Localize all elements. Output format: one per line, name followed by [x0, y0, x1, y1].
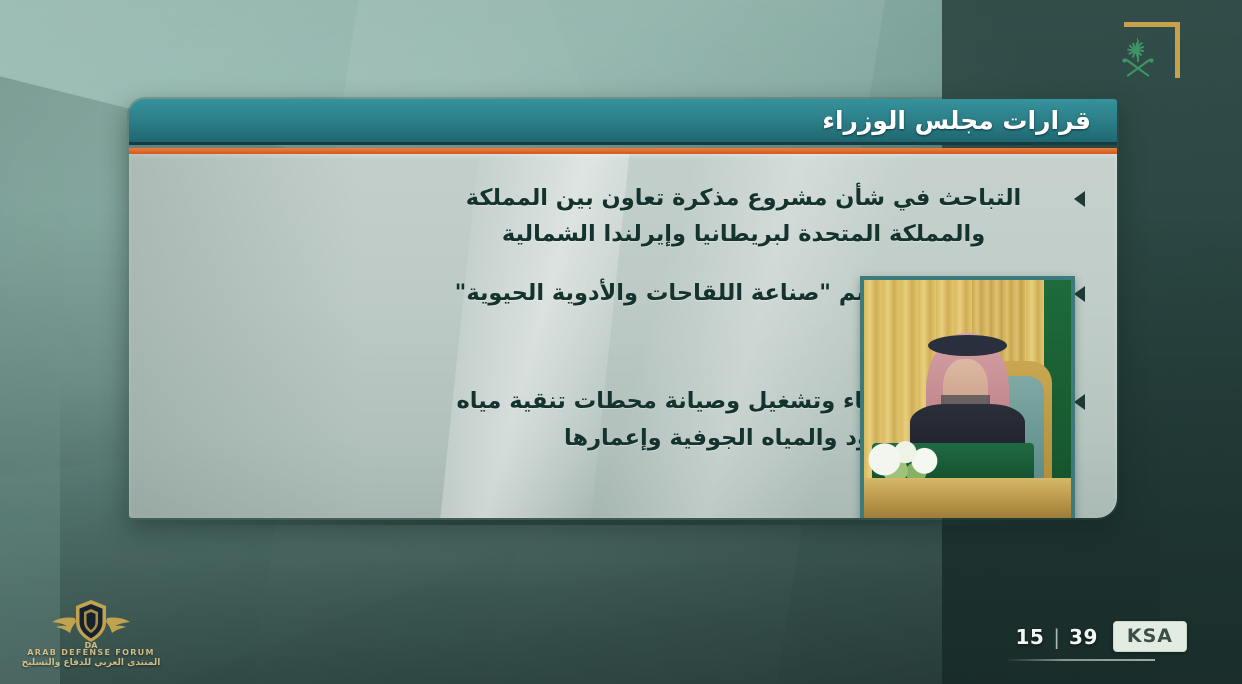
clock-underline-rule: [1005, 659, 1155, 661]
photo-flowers: [868, 433, 951, 481]
triangle-left-bullet-icon: [1074, 394, 1085, 410]
saudi-emblem-group: [1106, 22, 1180, 84]
clock-minutes: 39: [1069, 625, 1098, 649]
card-header-bar: قرارات مجلس الوزراء: [129, 99, 1117, 145]
page-title: قرارات مجلس الوزراء: [822, 106, 1091, 135]
shield-and-wings-logo-icon: DA: [48, 596, 134, 650]
body-shade-overlay: [129, 154, 359, 518]
cabinet-session-photo: [860, 276, 1075, 518]
broadcast-screen: قرارات مجلس الوزراء التباحث في شأن مشروع…: [0, 0, 1242, 684]
photo-image: [864, 280, 1071, 518]
watermark-english-label: ARAB DEFENSE FORUM: [6, 648, 176, 657]
photo-desk-front: [864, 478, 1071, 518]
card-body: التباحث في شأن مشروع مذكرة تعاون بين الم…: [129, 154, 1117, 518]
cabinet-decisions-card: قرارات مجلس الوزراء التباحث في شأن مشروع…: [127, 97, 1119, 520]
list-item: التباحث في شأن مشروع مذكرة تعاون بين الم…: [425, 180, 1085, 253]
watermark-arabic-label: المنتدى العربي للدفاع والتسليح: [6, 658, 176, 668]
clock-hours: 15: [1015, 625, 1044, 649]
saudi-national-emblem-icon: [1118, 36, 1158, 78]
card-underline-shadow: [157, 520, 1047, 525]
region-badge: KSA: [1113, 621, 1187, 652]
clock-separator: |: [1053, 625, 1060, 649]
triangle-left-bullet-icon: [1074, 286, 1085, 302]
broadcast-clock: 15 | 39 KSA: [1015, 621, 1187, 652]
forum-watermark: DA ARAB DEFENSE FORUM المنتدى العربي للد…: [6, 596, 176, 680]
list-item-text: التباحث في شأن مشروع مذكرة تعاون بين الم…: [425, 180, 1062, 253]
triangle-left-bullet-icon: [1074, 191, 1085, 207]
